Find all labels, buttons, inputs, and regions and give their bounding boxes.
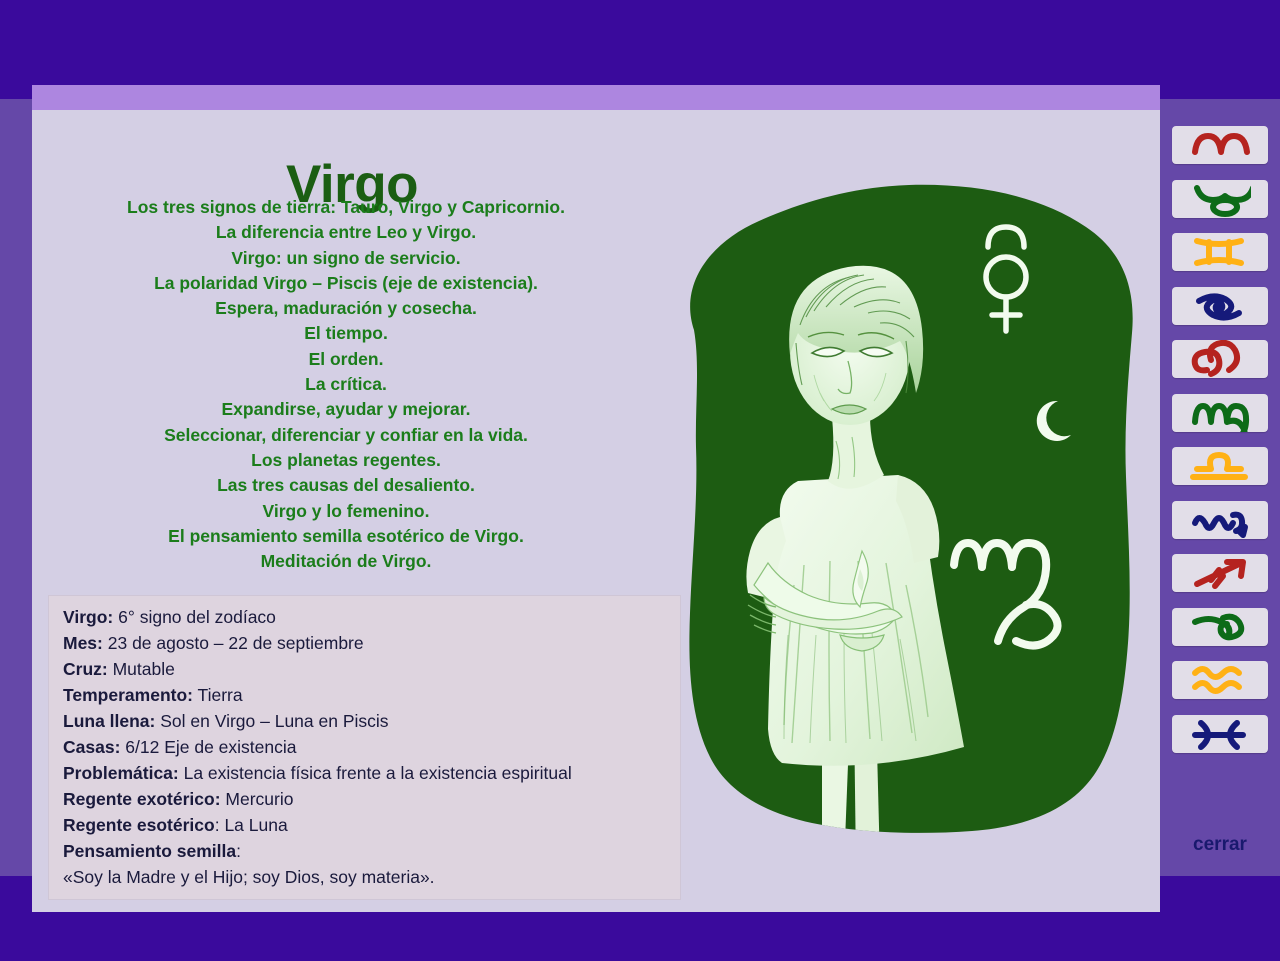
info-row-label: Temperamento:	[63, 685, 193, 705]
topic-list: Los tres signos de tierra: Tauro, Virgo …	[32, 195, 660, 574]
info-row-label: Regente exotérico:	[63, 789, 221, 809]
info-row-value: 6° signo del zodíaco	[113, 607, 276, 627]
zodiac-button-tauro[interactable]	[1172, 180, 1268, 218]
info-row: Problemática: La existencia física frent…	[63, 760, 666, 786]
zodiac-sidebar: cerrar	[1160, 99, 1280, 876]
info-row-label: Pensamiento semilla	[63, 841, 236, 861]
tauro-icon	[1189, 180, 1251, 218]
info-row-label: Luna llena:	[63, 711, 155, 731]
topic-line: Virgo: un signo de servicio.	[32, 246, 660, 271]
info-row-label: Virgo:	[63, 607, 113, 627]
libra-icon	[1189, 447, 1251, 485]
info-row-value: Mercurio	[221, 789, 294, 809]
geminis-icon	[1189, 233, 1251, 271]
info-row: Pensamiento semilla:	[63, 838, 666, 864]
info-box: Virgo: 6° signo del zodíacoMes: 23 de ag…	[48, 595, 681, 900]
zodiac-button-leo[interactable]	[1172, 340, 1268, 378]
zodiac-button-capricornio[interactable]	[1172, 608, 1268, 646]
info-row: Cruz: Mutable	[63, 656, 666, 682]
virgo-icon	[1189, 394, 1251, 432]
escorpio-icon	[1189, 501, 1251, 539]
topic-line: Las tres causas del desaliento.	[32, 473, 660, 498]
info-row-value: Tierra	[193, 685, 243, 705]
zodiac-button-aries[interactable]	[1172, 126, 1268, 164]
topic-line: La diferencia entre Leo y Virgo.	[32, 220, 660, 245]
info-row-label: Cruz:	[63, 659, 108, 679]
info-row-label: Mes:	[63, 633, 103, 653]
zodiac-button-escorpio[interactable]	[1172, 501, 1268, 539]
content-card: Virgo Los tres signos de tierra: Tauro, …	[32, 110, 1160, 912]
info-row-value: Sol en Virgo – Luna en Piscis	[155, 711, 388, 731]
topic-line: La polaridad Virgo – Piscis (eje de exis…	[32, 271, 660, 296]
aries-icon	[1189, 126, 1251, 164]
info-row: Temperamento: Tierra	[63, 682, 666, 708]
info-row-label: Problemática:	[63, 763, 179, 783]
topic-line: Virgo y lo femenino.	[32, 499, 660, 524]
topic-line: Seleccionar, diferenciar y confiar en la…	[32, 423, 660, 448]
info-row-value: : La Luna	[215, 815, 288, 835]
info-row: Mes: 23 de agosto – 22 de septiembre	[63, 630, 666, 656]
zodiac-button-geminis[interactable]	[1172, 233, 1268, 271]
zodiac-button-virgo[interactable]	[1172, 394, 1268, 432]
close-link[interactable]: cerrar	[1172, 834, 1268, 856]
info-row-value: La existencia física frente a la existen…	[179, 763, 572, 783]
leo-icon	[1189, 340, 1251, 378]
app-root: Virgo Los tres signos de tierra: Tauro, …	[0, 0, 1280, 961]
info-row: Casas: 6/12 Eje de existencia	[63, 734, 666, 760]
virgo-woman-illustration	[654, 165, 1154, 910]
topic-line: Espera, maduración y cosecha.	[32, 296, 660, 321]
info-row: Regente esotérico: La Luna	[63, 812, 666, 838]
topic-line: Los tres signos de tierra: Tauro, Virgo …	[32, 195, 660, 220]
topic-line: El pensamiento semilla esotérico de Virg…	[32, 524, 660, 549]
piscis-icon	[1189, 715, 1251, 753]
topic-line: Expandirse, ayudar y mejorar.	[32, 397, 660, 422]
zodiac-button-acuario[interactable]	[1172, 661, 1268, 699]
info-row: Luna llena: Sol en Virgo – Luna en Pisci…	[63, 708, 666, 734]
info-row-value: :	[236, 841, 241, 861]
info-rows: Virgo: 6° signo del zodíacoMes: 23 de ag…	[63, 604, 666, 864]
info-row-label: Regente esotérico	[63, 815, 215, 835]
info-row-value: 6/12 Eje de existencia	[120, 737, 296, 757]
info-row-label: Casas:	[63, 737, 120, 757]
topic-line: El orden.	[32, 347, 660, 372]
topic-line: La crítica.	[32, 372, 660, 397]
topic-line: El tiempo.	[32, 321, 660, 346]
cancer-icon	[1189, 287, 1251, 325]
acuario-icon	[1189, 661, 1251, 699]
info-row-value: Mutable	[108, 659, 175, 679]
zodiac-button-libra[interactable]	[1172, 447, 1268, 485]
capricornio-icon	[1189, 608, 1251, 646]
topic-line: Meditación de Virgo.	[32, 549, 660, 574]
window-title-bar	[32, 85, 1160, 110]
zodiac-button-cancer[interactable]	[1172, 287, 1268, 325]
seed-thought-quote: «Soy la Madre y el Hijo; soy Dios, soy m…	[63, 864, 666, 890]
info-row-value: 23 de agosto – 22 de septiembre	[103, 633, 364, 653]
zodiac-button-sagitario[interactable]	[1172, 554, 1268, 592]
topic-line: Los planetas regentes.	[32, 448, 660, 473]
sagitario-icon	[1189, 554, 1251, 592]
info-row: Virgo: 6° signo del zodíaco	[63, 604, 666, 630]
zodiac-button-piscis[interactable]	[1172, 715, 1268, 753]
info-row: Regente exotérico: Mercurio	[63, 786, 666, 812]
